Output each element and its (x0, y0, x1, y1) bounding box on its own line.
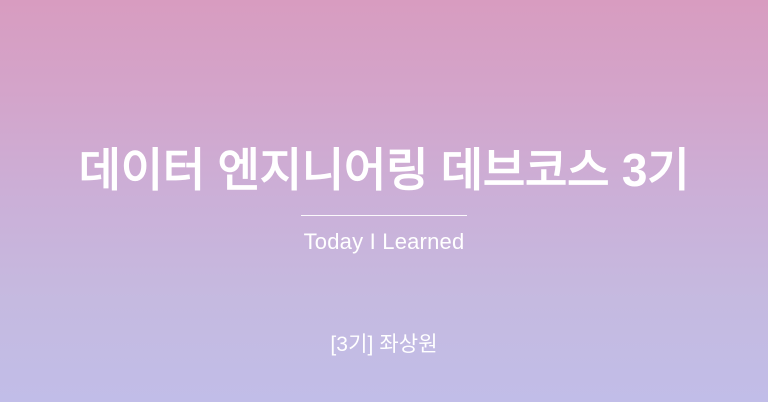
site-hero-banner: 데이터 엔지니어링 데브코스 3기 Today I Learned [3기] 좌… (0, 0, 768, 402)
page-subtitle: Today I Learned (0, 227, 768, 257)
page-title: 데이터 엔지니어링 데브코스 3기 (0, 142, 768, 198)
author-label: [3기] 좌상원 (0, 330, 768, 360)
title-divider (301, 215, 467, 216)
hero-content: 데이터 엔지니어링 데브코스 3기 Today I Learned [3기] 좌… (0, 0, 768, 402)
